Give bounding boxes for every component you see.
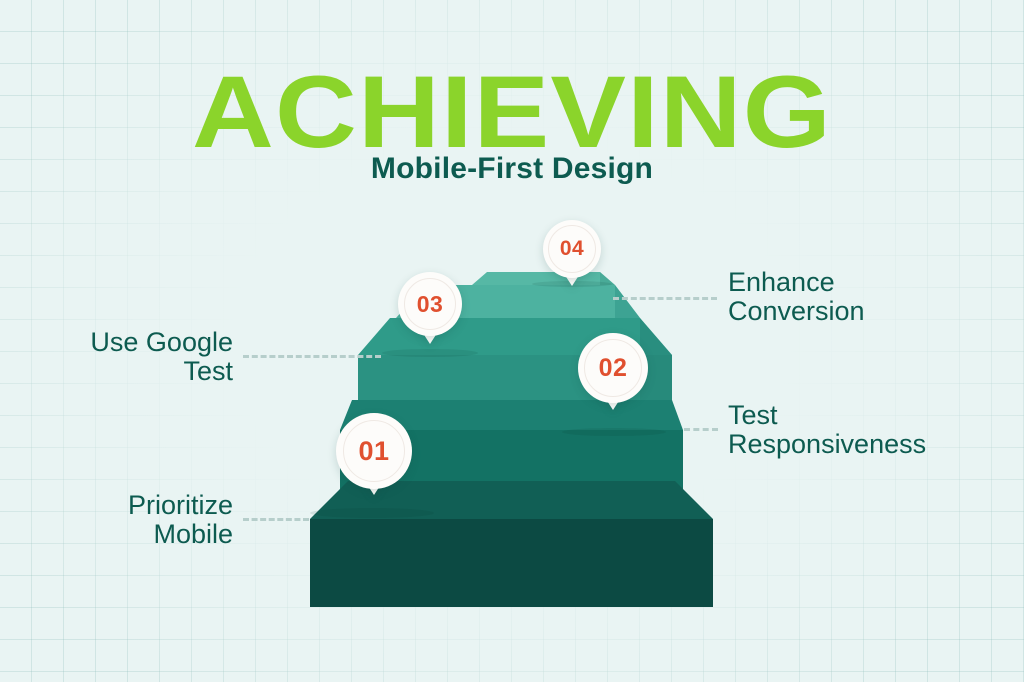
step-badge-04-circle: 04 (543, 220, 601, 278)
step-label-04: Enhance Conversion (728, 268, 990, 326)
connector-dash-01 (243, 518, 309, 521)
step-badge-02-circle: 02 (578, 333, 648, 403)
connector-dash-02 (684, 428, 718, 431)
step-badge-03-number: 03 (417, 291, 444, 318)
step-badge-01[interactable]: 01 (336, 413, 412, 509)
step-badge-02-number: 02 (599, 354, 628, 383)
step-badge-01-number: 01 (358, 436, 389, 467)
step-label-01: Prioritize Mobile (40, 491, 233, 549)
step-label-02: Test Responsiveness (728, 401, 990, 459)
step-badge-04-number: 04 (560, 237, 584, 261)
step-badge-03[interactable]: 03 (398, 272, 462, 354)
step-badge-03-circle: 03 (398, 272, 462, 336)
connector-dash-04 (613, 297, 717, 300)
step-badge-04[interactable]: 04 (543, 220, 601, 294)
step-badge-02[interactable]: 02 (578, 333, 648, 423)
step-badge-01-circle: 01 (336, 413, 412, 489)
connector-dash-03 (243, 355, 381, 358)
step-label-03: Use Google Test (40, 328, 233, 386)
